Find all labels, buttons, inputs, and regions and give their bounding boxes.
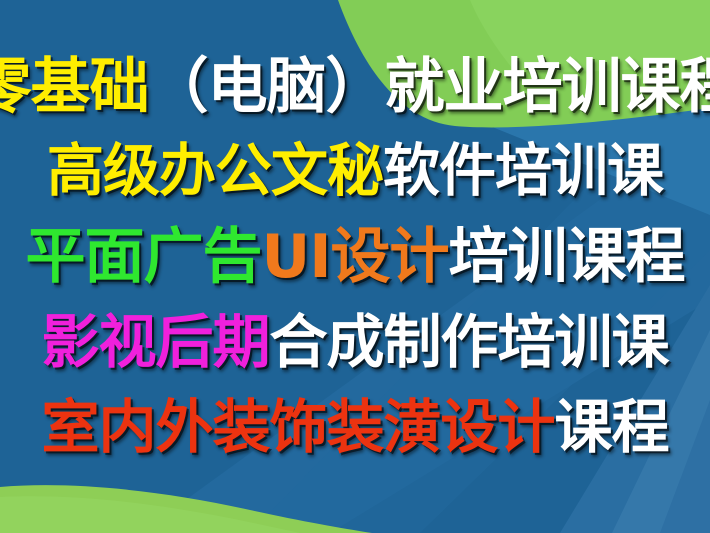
course-line-3-segment-3: 培训课程: [449, 227, 685, 287]
course-line-2-segment-1: 高级办公文秘: [47, 143, 383, 200]
course-line-5-segment-1: 室内外装饰装潢设计: [41, 398, 554, 456]
course-line-5-segment-2: 课程: [555, 398, 669, 456]
course-line-4-segment-2: 合成制作培训课: [270, 313, 669, 371]
course-line-interior-exterior-decoration: 室内外装饰装潢设计课程: [0, 384, 710, 469]
course-line-office-secretary: 高级办公文秘软件培训课: [0, 129, 710, 214]
course-line-film-post-production: 影视后期合成制作培训课: [0, 299, 710, 384]
course-line-1-segment-1: 零基础: [0, 57, 149, 117]
course-line-list: 零基础（电脑）就业培训课程 高级办公文秘软件培训课 平面广告UI设计培训课程 影…: [0, 0, 710, 533]
course-line-3-segment-1: 平面广告: [25, 227, 261, 287]
course-line-graphic-ui-design: 平面广告UI设计培训课程: [0, 214, 710, 299]
course-poster: 零基础（电脑）就业培训课程 高级办公文秘软件培训课 平面广告UI设计培训课程 影…: [0, 0, 710, 533]
course-line-2-segment-2: 软件培训课: [383, 143, 663, 200]
course-line-1-segment-2: （电脑）就业培训课程: [149, 57, 710, 117]
course-line-4-segment-1: 影视后期: [41, 313, 269, 371]
course-line-zero-basis: 零基础（电脑）就业培训课程: [0, 44, 710, 129]
course-line-3-segment-2: UI设计: [261, 227, 448, 287]
